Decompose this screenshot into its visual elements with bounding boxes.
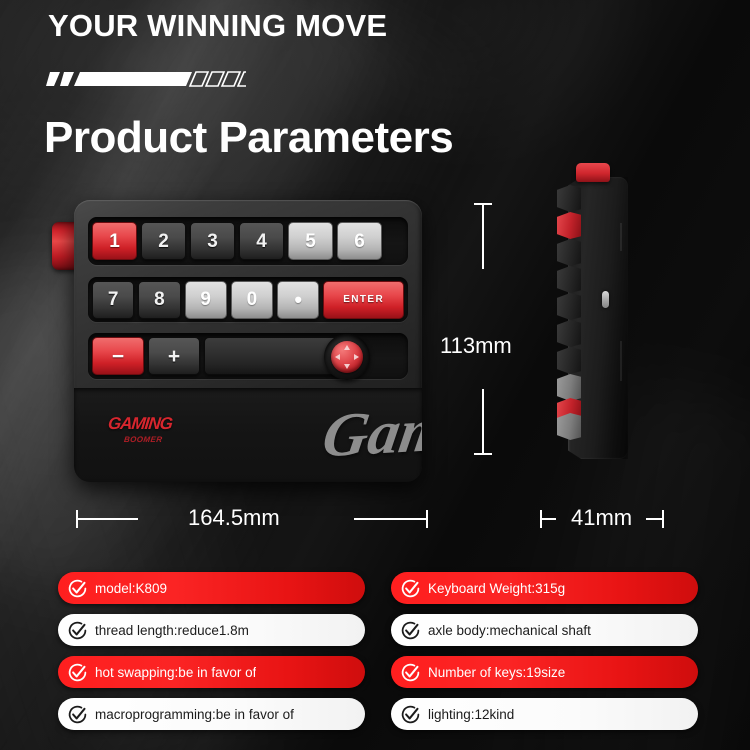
keycap[interactable]: 7 xyxy=(92,281,134,319)
side-seam xyxy=(620,223,622,251)
arrow-left-icon xyxy=(335,354,340,360)
side-volume-knob-icon xyxy=(576,163,610,182)
check-circle-icon xyxy=(67,578,88,599)
graffiti-artwork: Gam xyxy=(318,395,422,472)
page-title: Product Parameters xyxy=(44,113,453,163)
keycap-decimal[interactable]: • xyxy=(277,281,319,319)
spec-pill-label: hot swapping:be in favor of xyxy=(95,665,256,680)
check-circle-icon xyxy=(400,578,421,599)
arrow-down-icon xyxy=(344,364,350,369)
spec-pill-number-of-keys[interactable]: Number of keys:19size xyxy=(391,656,698,688)
spec-pill-label: macroprogramming:be in favor of xyxy=(95,707,294,722)
dimension-cap xyxy=(426,510,428,528)
side-keycap xyxy=(557,266,581,293)
spec-pill-label: Keyboard Weight:315g xyxy=(428,581,565,596)
keycap[interactable]: 4 xyxy=(239,222,284,260)
usb-port-icon xyxy=(602,291,609,308)
directional-joystick-icon[interactable] xyxy=(324,334,370,380)
check-circle-icon xyxy=(67,662,88,683)
dimension-cap xyxy=(474,453,492,455)
spec-pill-macroprogramming[interactable]: macroprogramming:be in favor of xyxy=(58,698,365,730)
keyboard-side-view xyxy=(540,163,660,463)
keycap[interactable]: 2 xyxy=(141,222,186,260)
keycap[interactable]: 6 xyxy=(337,222,382,260)
brand-logo-subtext: BOOMER xyxy=(124,435,201,444)
slash-stripes-decoration-icon xyxy=(46,68,246,90)
side-keycap xyxy=(557,413,581,440)
keyboard-body: 1 2 3 4 5 6 7 8 9 0 • ENTER − + xyxy=(74,200,422,482)
spec-pill-hot-swapping[interactable]: hot swapping:be in favor of xyxy=(58,656,365,688)
check-circle-icon xyxy=(67,704,88,725)
spec-pill-thread-length[interactable]: thread length:reduce1.8m xyxy=(58,614,365,646)
keycap[interactable]: 5 xyxy=(288,222,333,260)
spec-pill-weight[interactable]: Keyboard Weight:315g xyxy=(391,572,698,604)
keycap[interactable]: 3 xyxy=(190,222,235,260)
joystick-cap[interactable] xyxy=(331,341,363,373)
dimension-label-depth: 41mm xyxy=(571,505,632,531)
keycap[interactable]: 8 xyxy=(138,281,180,319)
spec-list: model:K809 Keyboard Weight:315g thread l… xyxy=(58,572,698,730)
side-keycap xyxy=(557,185,581,212)
dimension-segment xyxy=(482,203,484,269)
spec-pill-model[interactable]: model:K809 xyxy=(58,572,365,604)
spec-pill-label: thread length:reduce1.8m xyxy=(95,623,249,638)
keycap-enter[interactable]: ENTER xyxy=(323,281,404,319)
side-keycap xyxy=(557,374,581,401)
spec-pill-label: model:K809 xyxy=(95,581,167,596)
keycap-minus[interactable]: − xyxy=(92,337,144,375)
keypad-row-1: 1 2 3 4 5 6 xyxy=(88,217,408,265)
product-parameters-page: YOUR WINNING MOVE Product Parameters 1 2… xyxy=(0,0,750,750)
dimension-cap xyxy=(662,510,664,528)
dimension-label-height: 113mm xyxy=(440,333,512,359)
check-circle-icon xyxy=(400,620,421,641)
keypad-row-2: 7 8 9 0 • ENTER xyxy=(88,277,408,322)
spec-pill-label: axle body:mechanical shaft xyxy=(428,623,591,638)
spec-pill-label: Number of keys:19size xyxy=(428,665,565,680)
side-seam xyxy=(620,341,622,381)
side-keycap xyxy=(557,320,581,347)
dimension-segment xyxy=(482,389,484,455)
spec-pill-axle-body[interactable]: axle body:mechanical shaft xyxy=(391,614,698,646)
keycap[interactable]: 9 xyxy=(185,281,227,319)
headline: YOUR WINNING MOVE xyxy=(48,8,387,44)
dimension-segment xyxy=(540,518,556,520)
side-keycap xyxy=(557,347,581,374)
dimension-segment xyxy=(354,518,426,520)
check-circle-icon xyxy=(400,704,421,725)
spec-pill-lighting[interactable]: lighting:12kind xyxy=(391,698,698,730)
side-keycap-stack xyxy=(557,185,581,451)
brand-logo: GAMING BOOMER xyxy=(108,414,200,444)
side-keycap xyxy=(557,212,581,239)
check-circle-icon xyxy=(67,620,88,641)
side-keycap xyxy=(557,293,581,320)
arrow-right-icon xyxy=(354,354,359,360)
keycap[interactable]: 1 xyxy=(92,222,137,260)
arrow-up-icon xyxy=(344,345,350,350)
spec-pill-label: lighting:12kind xyxy=(428,707,514,722)
keyboard-bottom-plate: GAMING BOOMER Gam xyxy=(74,388,422,482)
dimension-label-width: 164.5mm xyxy=(188,505,280,531)
keyboard-top-view: 1 2 3 4 5 6 7 8 9 0 • ENTER − + xyxy=(52,200,422,482)
brand-logo-text: GAMING xyxy=(107,414,201,434)
side-keycap xyxy=(557,239,581,266)
dimension-segment xyxy=(646,518,662,520)
keycap-plus[interactable]: + xyxy=(148,337,200,375)
keycap[interactable]: 0 xyxy=(231,281,273,319)
check-circle-icon xyxy=(400,662,421,683)
dimension-segment xyxy=(76,518,138,520)
